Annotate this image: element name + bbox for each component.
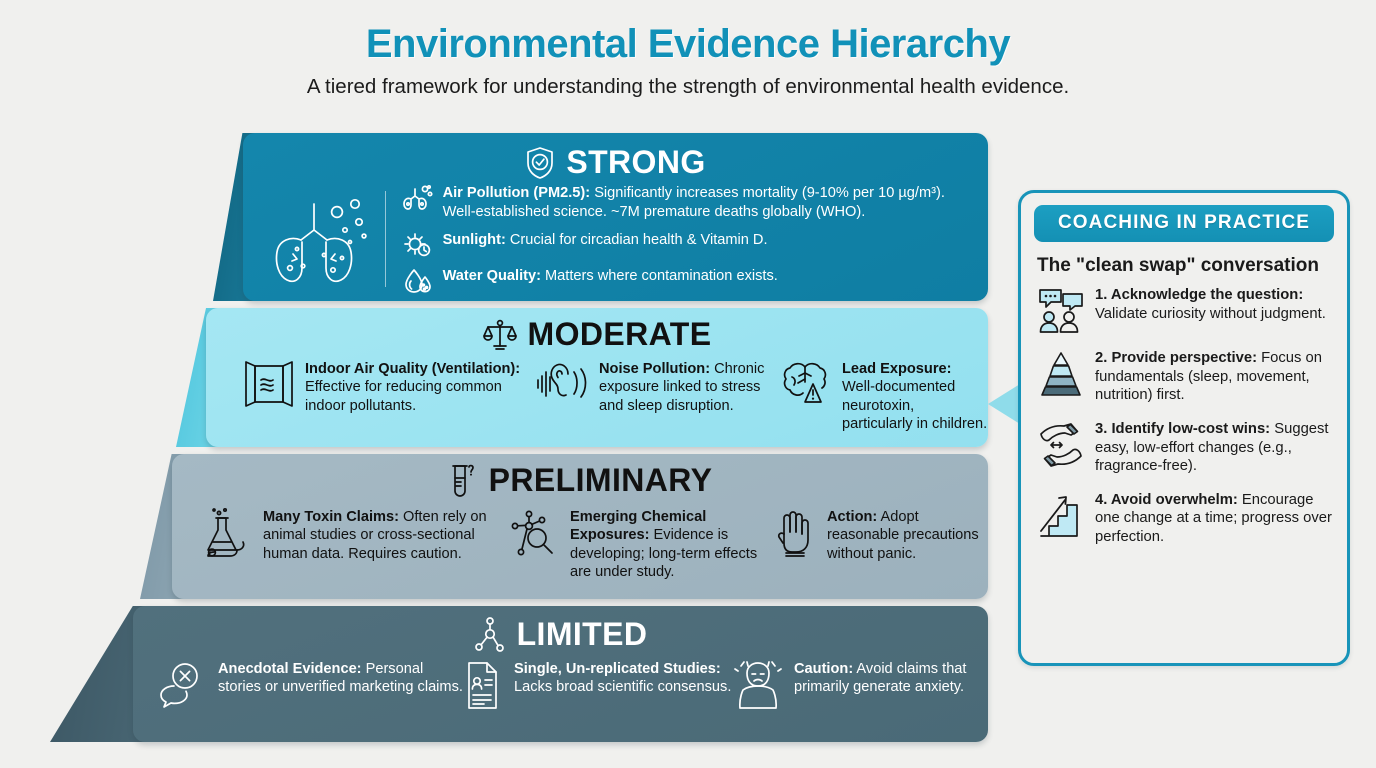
list-item: Single, Un-replicated Studies: Lacks bro… xyxy=(463,660,733,742)
list-item-text: Caution: Avoid claims that primarily gen… xyxy=(794,660,968,697)
tier-strong[interactable]: STRONG xyxy=(243,133,988,301)
list-item: Caution: Avoid claims that primarily gen… xyxy=(733,660,968,742)
list-item: 2. Provide perspective: Focus on fundame… xyxy=(1034,349,1334,405)
shield-check-icon xyxy=(525,146,555,180)
tier-moderate[interactable]: MODERATE Indoor Air Quality (Venti xyxy=(206,308,988,447)
list-item-text: 4. Avoid overwhelm: Encourage one change… xyxy=(1095,491,1334,547)
list-item-text: Noise Pollution: Chronic exposure linked… xyxy=(599,360,781,415)
evidence-pyramid: STRONG xyxy=(0,0,1010,768)
list-item: Sunlight: Crucial for circadian health &… xyxy=(403,231,970,258)
coaching-panel: COACHING IN PRACTICE The "clean swap" co… xyxy=(1018,190,1350,666)
coaching-steps-list: 1. Acknowledge the question: Validate cu… xyxy=(1034,286,1334,547)
list-item: Action: Adopt reasonable precautions wit… xyxy=(772,508,988,599)
list-item-text: 3. Identify low-cost wins: Suggest easy,… xyxy=(1095,420,1334,476)
tier-preliminary[interactable]: PRELIMINARY xyxy=(172,454,988,599)
list-item: Water Quality: Matters where contaminati… xyxy=(403,267,970,294)
flask-mouse-icon xyxy=(200,508,252,560)
tier-limited[interactable]: LIMITED Anecdotal Evidence: Personal sto… xyxy=(133,606,988,742)
lungs-particles-icon xyxy=(403,184,433,211)
lungs-icon xyxy=(265,190,381,288)
open-window-icon xyxy=(244,360,294,408)
list-item-text: Single, Un-replicated Studies: Lacks bro… xyxy=(514,660,733,697)
list-item: Lead Exposure: Well-documented neurotoxi… xyxy=(781,360,988,447)
list-item: Indoor Air Quality (Ventilation): Effect… xyxy=(206,360,536,447)
molecule-magnifier-icon xyxy=(507,508,559,560)
list-item-text: 2. Provide perspective: Focus on fundame… xyxy=(1095,349,1334,405)
anxious-person-icon xyxy=(733,660,783,712)
list-item-text: Lead Exposure: Well-documented neurotoxi… xyxy=(842,360,988,434)
list-item: 3. Identify low-cost wins: Suggest easy,… xyxy=(1034,420,1334,476)
list-item-text: Emerging Chemical Exposures: Evidence is… xyxy=(570,508,772,582)
document-person-icon xyxy=(463,660,503,712)
stairs-arrow-icon xyxy=(1037,491,1085,539)
list-item-text: Air Pollution (PM2.5): Significantly inc… xyxy=(443,184,970,221)
list-item: Anecdotal Evidence: Personal stories or … xyxy=(133,660,463,742)
list-item-text: Sunlight: Crucial for circadian health &… xyxy=(443,231,768,250)
list-item: 1. Acknowledge the question: Validate cu… xyxy=(1034,286,1334,334)
list-item-text: Anecdotal Evidence: Personal stories or … xyxy=(218,660,463,697)
list-item: Emerging Chemical Exposures: Evidence is… xyxy=(507,508,772,599)
list-item: Air Pollution (PM2.5): Significantly inc… xyxy=(403,184,970,221)
list-item: Noise Pollution: Chronic exposure linked… xyxy=(536,360,781,447)
list-item: Many Toxin Claims: Often rely on animal … xyxy=(172,508,507,599)
two-people-chat-icon xyxy=(1037,286,1085,334)
pyramid-tiers-icon xyxy=(1037,349,1085,397)
exchange-hands-icon xyxy=(1037,420,1085,468)
panel-subtitle: The "clean swap" conversation xyxy=(1037,255,1334,277)
list-item-text: 1. Acknowledge the question: Validate cu… xyxy=(1095,286,1334,323)
sun-clock-icon xyxy=(403,231,433,258)
list-item-text: Indoor Air Quality (Ventilation): Effect… xyxy=(305,360,536,415)
stop-hand-icon xyxy=(772,508,816,560)
panel-badge: COACHING IN PRACTICE xyxy=(1034,205,1334,242)
water-drop-icon xyxy=(403,267,433,294)
brain-warning-icon xyxy=(781,360,831,408)
list-item-text: Action: Adopt reasonable precautions wit… xyxy=(827,508,988,563)
strong-divider xyxy=(385,191,386,287)
speech-bubble-x-icon xyxy=(155,660,207,708)
infographic-canvas: Environmental Evidence Hierarchy A tiere… xyxy=(0,0,1376,768)
tier-strong-label: STRONG xyxy=(566,144,705,181)
tier-strong-heading: STRONG xyxy=(243,144,988,181)
list-item: 4. Avoid overwhelm: Encourage one change… xyxy=(1034,491,1334,547)
list-item-text: Water Quality: Matters where contaminati… xyxy=(443,267,778,286)
list-item-text: Many Toxin Claims: Often rely on animal … xyxy=(263,508,507,563)
ear-soundwaves-icon xyxy=(536,360,588,408)
